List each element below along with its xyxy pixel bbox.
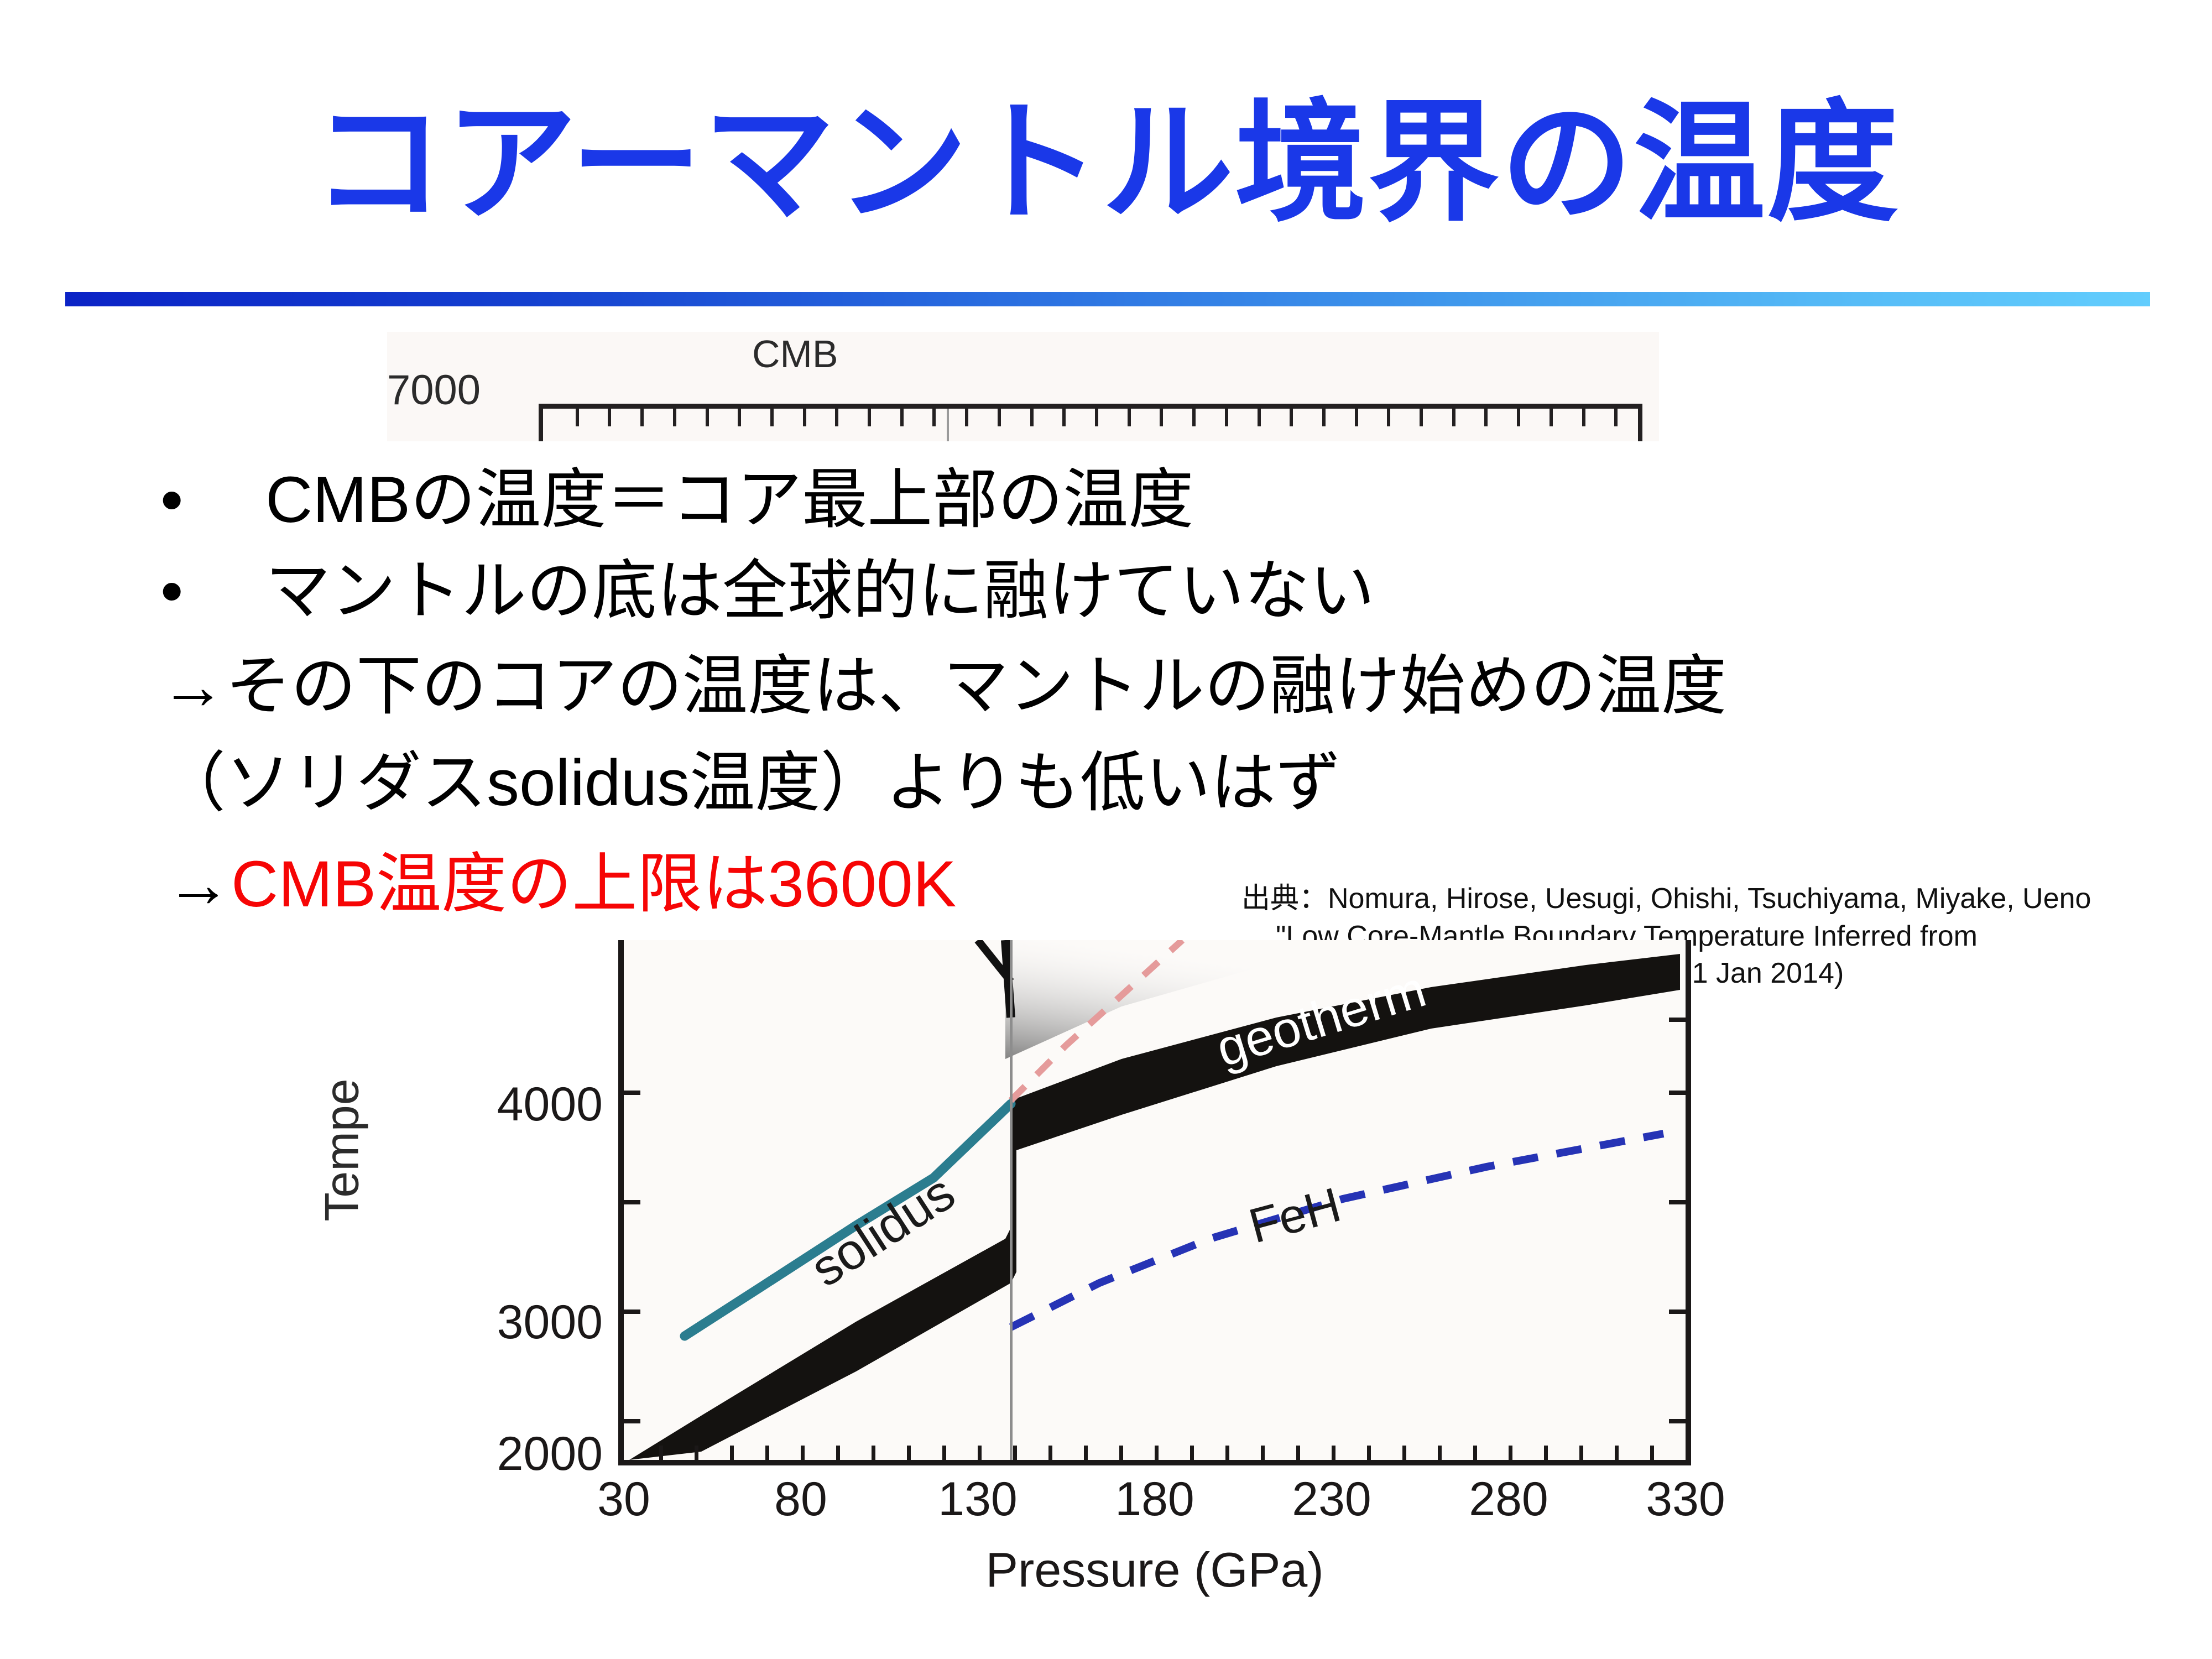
chart-xtick-label-330: 330 (1646, 1472, 1725, 1527)
top-fragment-tick (998, 409, 1001, 426)
chart-xtick-minor (1544, 1446, 1548, 1460)
chart-ytick-right-4000 (1669, 1091, 1686, 1095)
top-fragment-tick (673, 409, 676, 426)
top-fragment-tick (932, 409, 936, 426)
top-chart-fragment: 7000 CMB (387, 332, 1659, 441)
chart-xtick-minor (1013, 1446, 1017, 1460)
geotherm-band (629, 954, 1680, 1460)
chart-xtick-minor (1225, 1446, 1229, 1460)
top-fragment-tick (1355, 409, 1358, 426)
chart-plot-frame: geotherm solidus FeH (618, 940, 1691, 1465)
chart-xtick-label-230: 230 (1292, 1472, 1371, 1527)
top-fragment-tick (1225, 409, 1228, 426)
top-fragment-tick (1614, 409, 1618, 426)
chart-xtick-minor (872, 1446, 875, 1460)
chart-svg (624, 940, 1686, 1460)
title-divider (65, 292, 2150, 306)
chart-xtick-minor (1438, 1446, 1442, 1460)
chart-ytick-right-4200 (1669, 1018, 1686, 1022)
top-fragment-axis (539, 404, 1642, 441)
chart-ytick-3000 (624, 1310, 640, 1314)
body-line-3: →その下のコアの温度は、マントルの融け始めの温度 (160, 654, 1726, 719)
top-fragment-tick (1322, 409, 1326, 426)
top-fragment-tick (1160, 409, 1163, 426)
top-fragment-tick (608, 409, 611, 426)
chart-ytick-right-2500 (1669, 1419, 1686, 1423)
chart-xtick-minor (1650, 1446, 1654, 1460)
chart-cmb-vertical-line (1010, 940, 1013, 1465)
top-fragment-tick (965, 409, 968, 426)
chart-x-axis-label: Pressure (GPa) (618, 1542, 1691, 1598)
top-fragment-tick (770, 409, 774, 426)
top-fragment-tick (868, 409, 871, 426)
bullet-marker-2: • (160, 559, 183, 624)
chart-xtick-label-280: 280 (1469, 1472, 1548, 1527)
top-fragment-tick (1030, 409, 1034, 426)
top-fragment-ytick-7000: 7000 (387, 366, 481, 414)
top-fragment-cmb-label: CMB (752, 332, 838, 376)
top-fragment-tick (1517, 409, 1520, 426)
top-fragment-tick (1550, 409, 1553, 426)
chart-ytick-4000 (624, 1091, 640, 1095)
top-fragment-tick (1420, 409, 1423, 426)
chart-xtick-minor (695, 1446, 698, 1460)
top-fragment-tick (1062, 409, 1066, 426)
chart-xtick-minor (659, 1446, 663, 1460)
chart-xtick-minor (765, 1446, 769, 1460)
chart-ytick-label-3000: 3000 (497, 1295, 603, 1350)
conclusion-arrow: → (166, 848, 231, 921)
chart-xtick-minor (1332, 1446, 1335, 1460)
chart-xtick-minor (1615, 1446, 1619, 1460)
top-fragment-tick (803, 409, 806, 426)
chart-xtick-minor (1579, 1446, 1583, 1460)
chart-xtick-minor (1155, 1446, 1159, 1460)
chart-xtick-minor (836, 1446, 840, 1460)
bullet-text-2: マントルの底は全球的に融けていない (265, 559, 1375, 624)
chart-xtick-minor (1296, 1446, 1300, 1460)
chart-xtick-minor (1084, 1446, 1088, 1460)
bullet-text-1: CMBの温度＝コア最上部の温度 (265, 467, 1193, 533)
main-chart: Tempe 4000 3000 2000 30 80 130 180 230 2… (343, 940, 1781, 1609)
top-fragment-tick (1452, 409, 1455, 426)
conclusion-line: →CMB温度の上限は3600K (166, 852, 956, 917)
top-fragment-tick (640, 409, 644, 426)
chart-xtick-minor (942, 1446, 946, 1460)
chart-y-axis-label: Tempe (315, 1078, 370, 1221)
chart-ytick-3500 (624, 1200, 640, 1204)
top-fragment-tick (1258, 409, 1261, 426)
chart-xtick-minor (1367, 1446, 1371, 1460)
chart-xtick-minor (978, 1446, 982, 1460)
top-fragment-tick (1290, 409, 1293, 426)
chart-xtick-minor (1473, 1446, 1477, 1460)
chart-xtick-minor (1402, 1446, 1406, 1460)
chart-xtick-minor (1119, 1446, 1123, 1460)
top-fragment-tick (1192, 409, 1196, 426)
bullet-marker-1: • (160, 467, 183, 533)
top-fragment-tick (835, 409, 838, 426)
top-fragment-tick (706, 409, 709, 426)
chart-xtick-minor (1261, 1446, 1265, 1460)
top-fragment-tick (1582, 409, 1585, 426)
top-fragment-tick (1484, 409, 1488, 426)
chart-xtick-minor (907, 1446, 911, 1460)
top-fragment-tick (1095, 409, 1098, 426)
chart-ytick-right-3000 (1669, 1310, 1686, 1314)
chart-ytick-label-4000: 4000 (497, 1077, 603, 1132)
top-fragment-tick (900, 409, 904, 426)
body-line-4: （ソリダスsolidus温度）よりも低いはず (160, 750, 1341, 816)
top-fragment-tick (1128, 409, 1131, 426)
chart-ytick-2500 (624, 1419, 640, 1423)
conclusion-highlight-text: CMB温度の上限は3600K (231, 848, 956, 921)
page-title: コアーマントル境界の温度 (0, 94, 2212, 233)
top-fragment-tick (738, 409, 741, 426)
chart-xtick-minor (801, 1446, 805, 1460)
chart-xtick-minor (1190, 1446, 1194, 1460)
top-fragment-cmb-line (947, 409, 949, 441)
chart-xtick-label-130: 130 (938, 1472, 1018, 1527)
chart-ytick-right-3500 (1669, 1200, 1686, 1204)
citation-line-1: 出典：Nomura, Hirose, Uesugi, Ohishi, Tsuch… (1241, 880, 2204, 918)
chart-xtick-label-180: 180 (1115, 1472, 1194, 1527)
chart-xtick-minor (1509, 1446, 1512, 1460)
chart-xtick-label-80: 80 (774, 1472, 827, 1527)
chart-xtick-label-30: 30 (597, 1472, 650, 1527)
chart-xtick-minor (1048, 1446, 1052, 1460)
top-fragment-tick (576, 409, 579, 426)
chart-ytick-label-2000: 2000 (497, 1427, 603, 1481)
chart-xtick-minor (730, 1446, 734, 1460)
top-fragment-tick (1387, 409, 1390, 426)
